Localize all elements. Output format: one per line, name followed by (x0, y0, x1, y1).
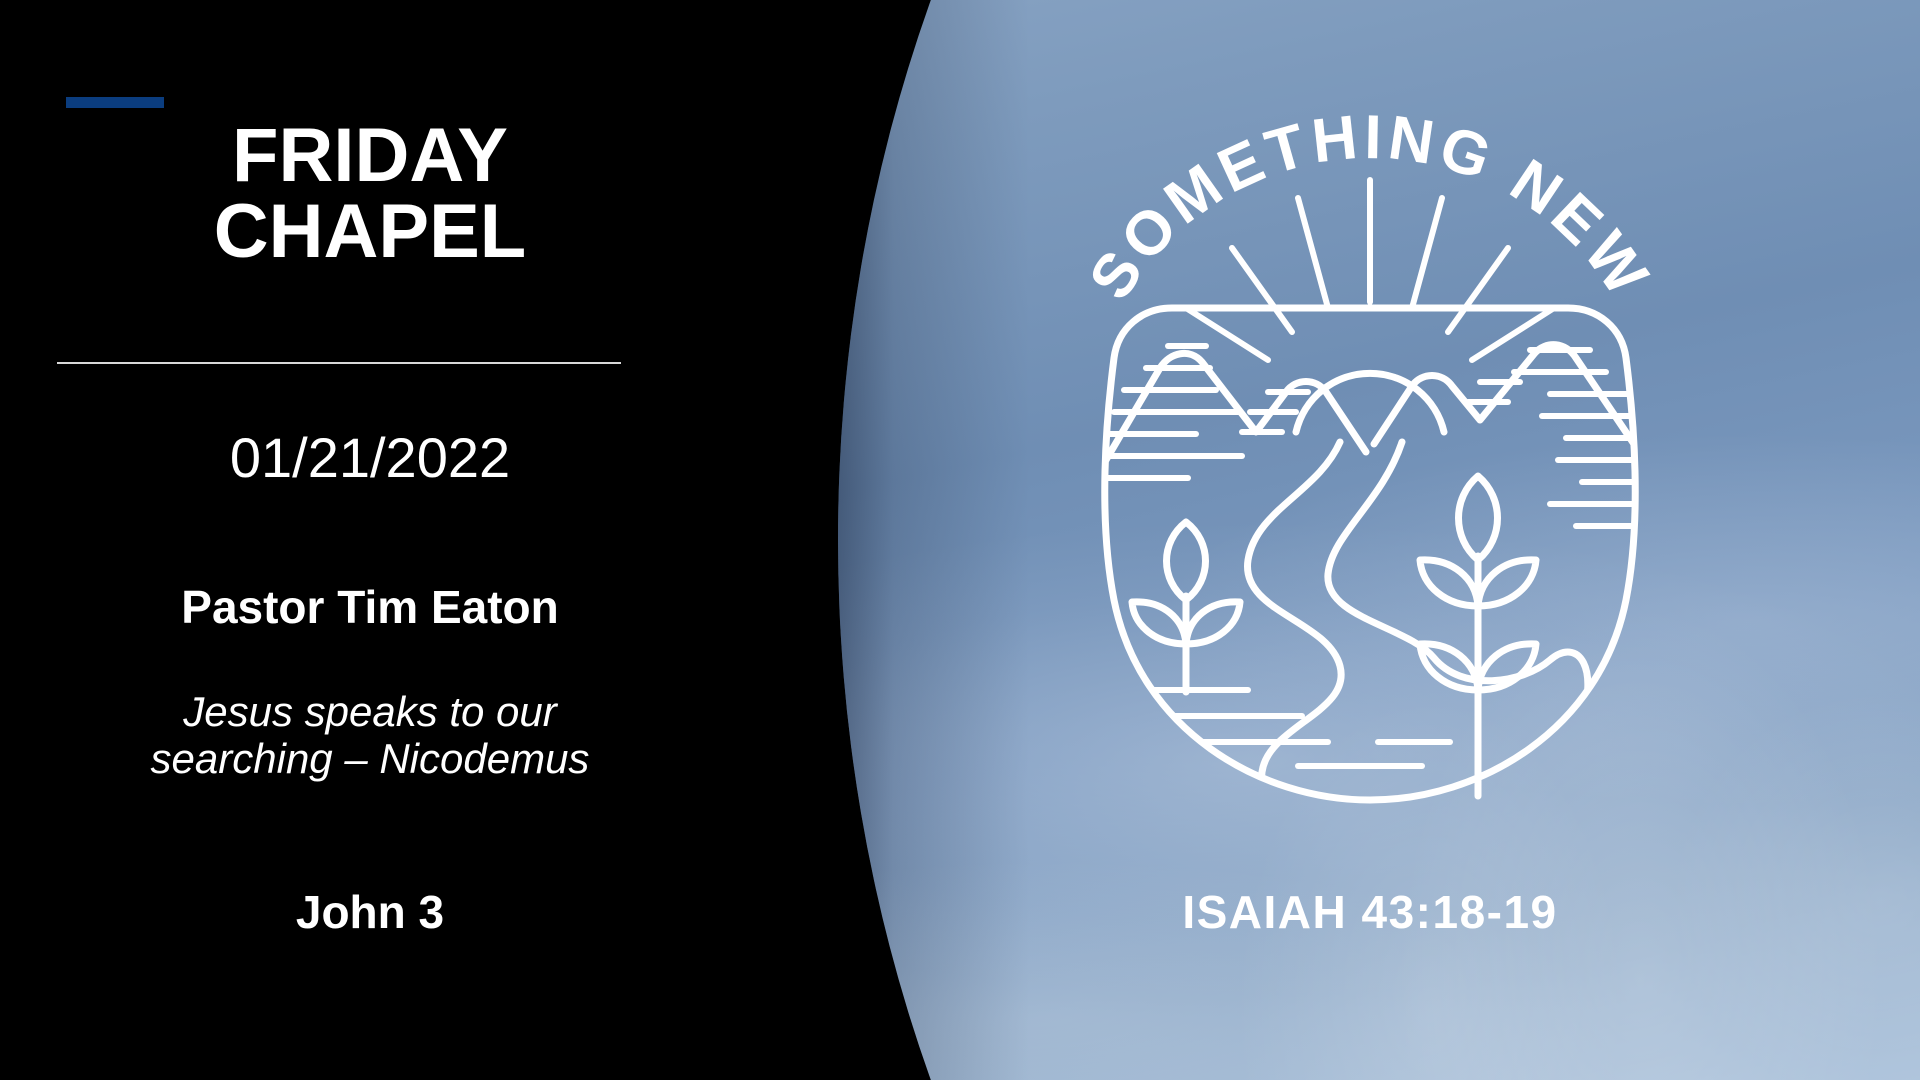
sermon-topic: Jesus speaks to our searching – Nicodemu… (60, 688, 680, 782)
accent-bar (66, 97, 164, 108)
info-panel: FRIDAY CHAPEL 01/21/2022 Pastor Tim Eato… (0, 0, 820, 1080)
bible-passage: John 3 (60, 885, 680, 939)
title-line-1: FRIDAY (60, 118, 680, 194)
title-line-2: CHAPEL (60, 194, 680, 270)
leaf-outline-icon (1105, 308, 1635, 800)
speaker-name: Pastor Tim Eaton (60, 580, 680, 634)
service-date: 01/21/2022 (60, 425, 680, 490)
panel-seam-shadow (810, 0, 1030, 1080)
sermon-topic-line-2: searching – Nicodemus (60, 735, 680, 782)
river-icon (1247, 442, 1370, 828)
sprout-left-icon (1132, 522, 1240, 692)
page-title: FRIDAY CHAPEL (60, 118, 680, 270)
sprout-right-icon (1420, 476, 1536, 796)
sermon-topic-line-1: Jesus speaks to our (60, 688, 680, 735)
divider (57, 362, 621, 364)
something-new-logo: SOMETHING NEW (1010, 40, 1730, 860)
scripture-reference: ISAIAH 43:18-19 (1010, 885, 1730, 939)
sun-rays-icon (1186, 180, 1554, 360)
sermon-title-slide: SOMETHING NEW (0, 0, 1920, 1080)
